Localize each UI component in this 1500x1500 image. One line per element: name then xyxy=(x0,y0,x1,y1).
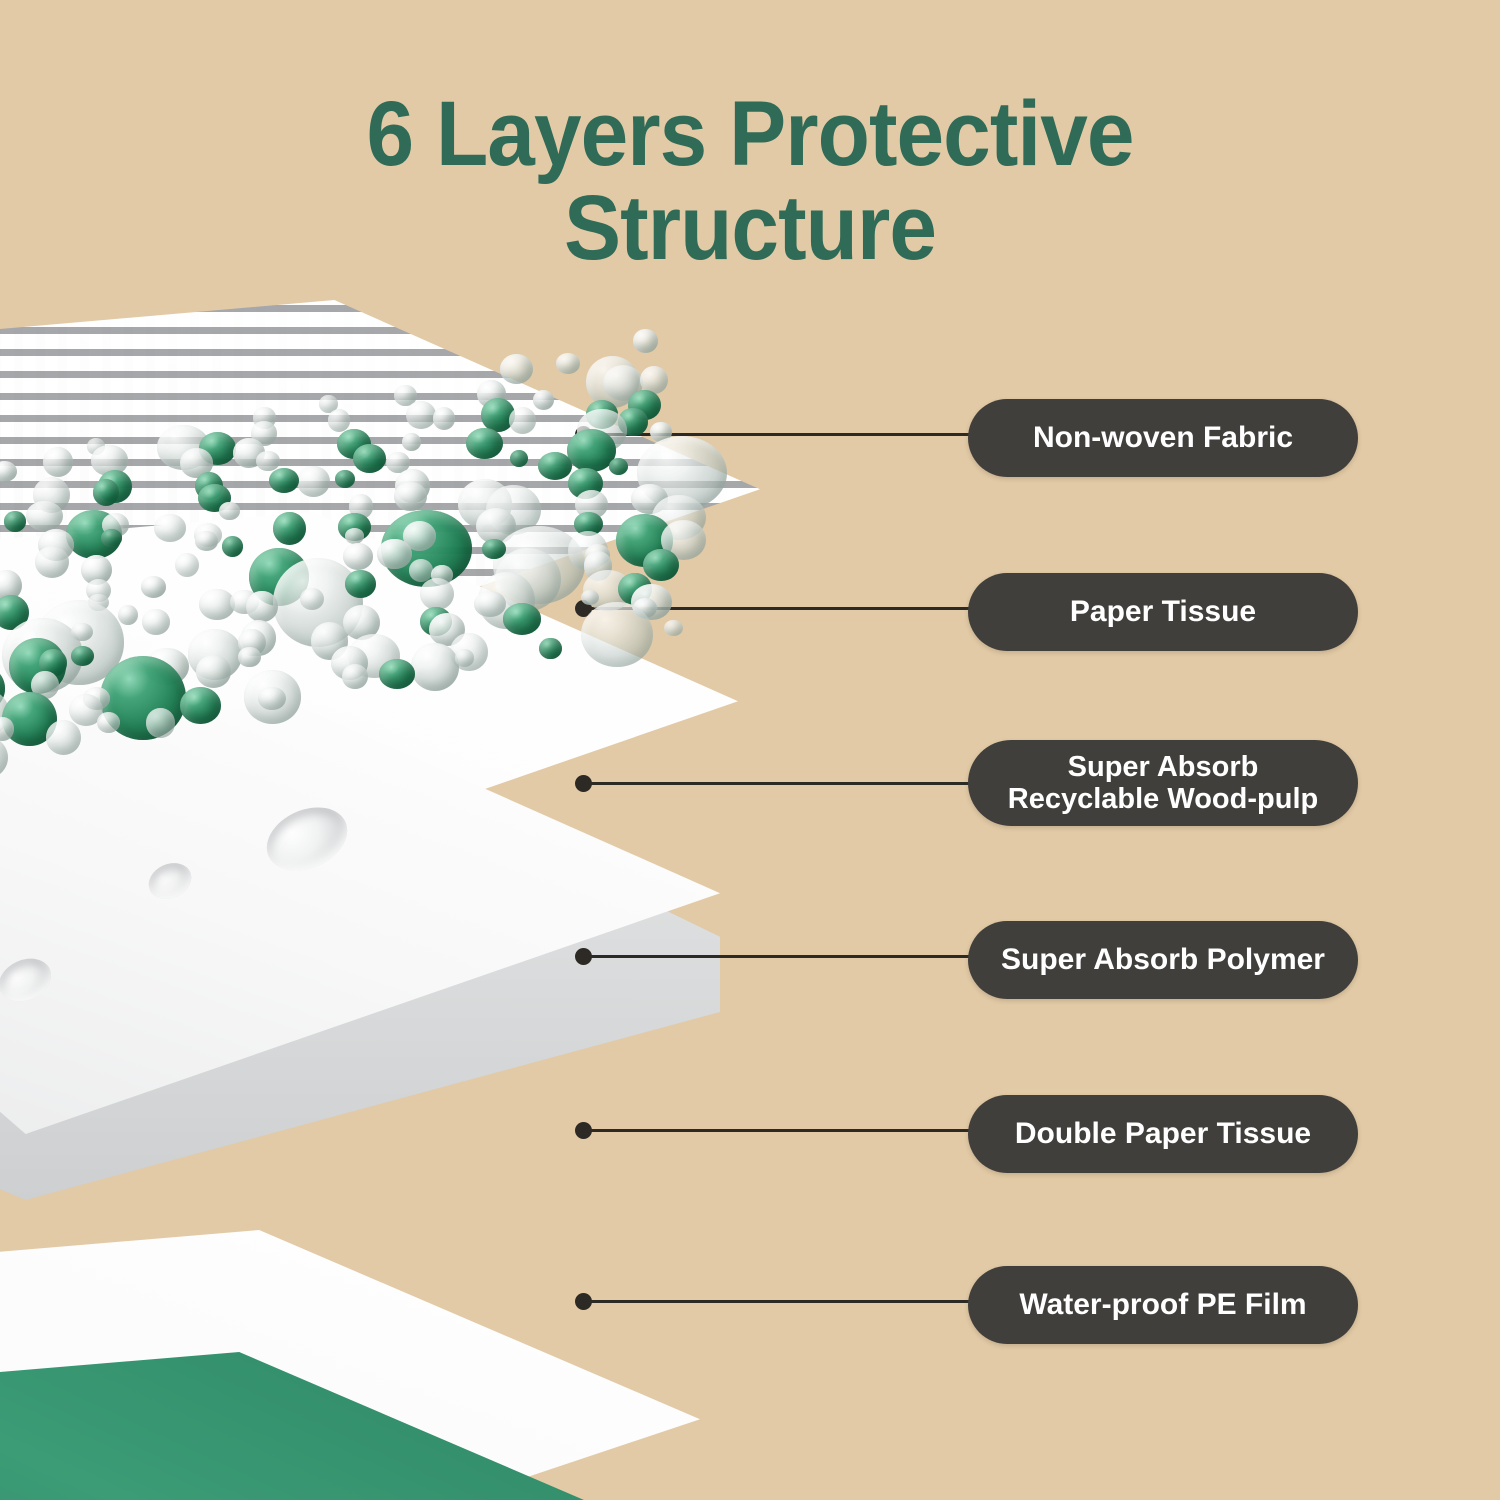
gel-bead-green xyxy=(510,450,528,467)
gel-bead-clear xyxy=(500,354,533,384)
exploded-layer-illustration xyxy=(0,300,820,1500)
infographic-canvas: 6 Layers Protective Structure Non-woven … xyxy=(0,0,1500,1500)
gel-bead-green xyxy=(93,479,120,506)
callout-paper-tissue[interactable]: Paper Tissue xyxy=(968,573,1358,651)
callout-water-proof-pe-film[interactable]: Water-proof PE Film xyxy=(968,1266,1358,1344)
gel-bead-clear xyxy=(142,609,169,634)
leader-line-super-absorb-polymer xyxy=(583,955,973,958)
gel-bead-clear xyxy=(26,501,63,532)
leader-line-wood-pulp xyxy=(583,782,973,785)
gel-bead-clear xyxy=(146,708,175,737)
gel-bead-clear xyxy=(664,620,682,636)
gel-bead-clear xyxy=(175,553,199,577)
gel-bead-green xyxy=(101,529,122,547)
gel-bead-clear xyxy=(238,647,260,667)
gel-bead-clear xyxy=(420,578,454,610)
gel-bead-clear xyxy=(433,407,455,430)
gel-bead-green xyxy=(71,646,94,666)
gel-bead-clear xyxy=(297,466,330,497)
gel-bead-clear xyxy=(377,539,412,570)
droplet-dimple xyxy=(257,795,357,882)
gel-bead-green xyxy=(180,687,221,723)
gel-bead-clear xyxy=(633,329,659,353)
gel-bead-clear xyxy=(406,401,436,429)
gel-bead-clear xyxy=(455,649,474,666)
gel-bead-clear xyxy=(246,591,277,622)
gel-bead-clear xyxy=(35,546,69,578)
callout-label: Super Absorb Recyclable Wood-pulp xyxy=(1008,751,1318,816)
gel-bead-green xyxy=(482,539,505,559)
callout-label: Paper Tissue xyxy=(1070,595,1256,629)
leader-line-double-paper-tissue xyxy=(583,1129,973,1132)
callout-double-paper-tissue[interactable]: Double Paper Tissue xyxy=(968,1095,1358,1173)
gel-bead-clear xyxy=(118,605,138,625)
leader-line-water-proof-pe-film xyxy=(583,1300,973,1303)
gel-bead-clear xyxy=(154,514,186,542)
gel-bead-green xyxy=(503,603,541,634)
gel-bead-clear xyxy=(328,409,351,431)
droplet-dimple xyxy=(0,951,58,1010)
gel-bead-green xyxy=(539,638,561,660)
gel-bead-green xyxy=(353,444,386,473)
gel-bead-clear xyxy=(581,602,652,667)
droplet-dimple xyxy=(143,857,197,906)
gel-bead-green xyxy=(4,511,26,531)
callout-wood-pulp[interactable]: Super Absorb Recyclable Wood-pulp xyxy=(968,740,1358,826)
callout-label: Water-proof PE Film xyxy=(1019,1288,1306,1322)
gel-bead-clear xyxy=(342,664,367,689)
gel-bead-clear xyxy=(300,588,323,610)
callout-label: Super Absorb Polymer xyxy=(1001,943,1325,977)
gel-bead-clear xyxy=(394,482,426,512)
gel-bead-clear xyxy=(509,407,536,433)
gel-bead-green xyxy=(222,536,243,557)
gel-bead-clear xyxy=(71,623,93,641)
gel-bead-clear xyxy=(219,502,240,521)
gel-bead-clear xyxy=(411,643,459,690)
callout-label: Double Paper Tissue xyxy=(1015,1117,1311,1151)
gel-bead-green xyxy=(273,512,306,545)
gel-bead-clear xyxy=(258,687,285,711)
gel-bead-clear xyxy=(195,531,218,550)
gel-bead-green xyxy=(379,659,415,689)
callout-non-woven-fabric[interactable]: Non-woven Fabric xyxy=(968,399,1358,477)
gel-bead-clear xyxy=(556,353,580,373)
callout-label: Non-woven Fabric xyxy=(1033,421,1293,455)
gel-bead-clear xyxy=(402,433,421,451)
gel-bead-green xyxy=(609,458,628,475)
page-title: 6 Layers Protective Structure xyxy=(53,88,1448,276)
gel-bead-green xyxy=(643,549,679,582)
gel-bead-clear xyxy=(474,591,506,617)
callout-super-absorb-polymer[interactable]: Super Absorb Polymer xyxy=(968,921,1358,999)
gel-bead-clear xyxy=(46,720,81,755)
gel-bead-clear xyxy=(43,447,73,477)
gel-bead-green xyxy=(567,429,616,472)
